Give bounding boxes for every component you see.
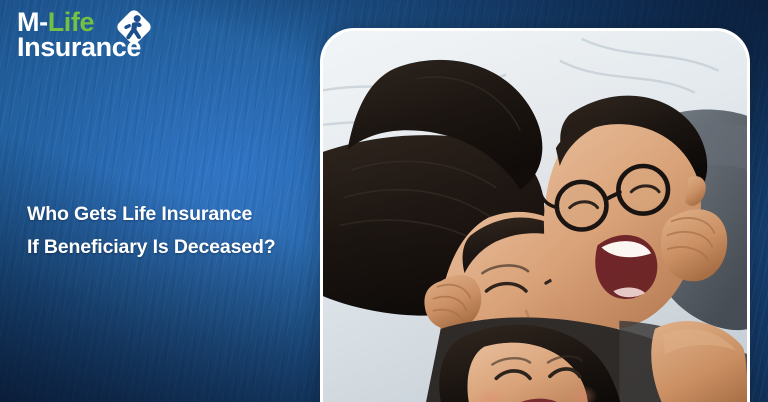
diamond-person-icon xyxy=(114,7,154,47)
headline-line-2: If Beneficiary Is Deceased? xyxy=(27,231,276,264)
hero-photo xyxy=(323,31,747,402)
headline-line-1: Who Gets Life Insurance xyxy=(27,198,276,231)
headline: Who Gets Life Insurance If Beneficiary I… xyxy=(27,198,276,264)
brand-logo[interactable]: M-Life Insurance xyxy=(17,9,141,61)
promo-banner: M-Life Insurance Who Gets Life Insurance… xyxy=(0,0,768,402)
hero-photo-frame xyxy=(320,28,750,402)
